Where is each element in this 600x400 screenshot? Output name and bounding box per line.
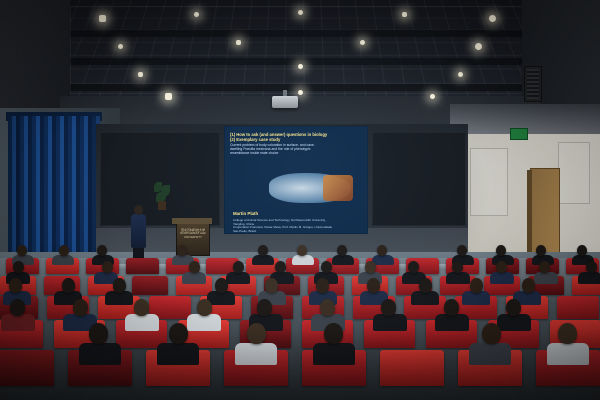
audience-person-head xyxy=(247,323,266,344)
audience-person-torso xyxy=(235,343,277,365)
audience-person-torso xyxy=(534,272,558,284)
audience-person-head xyxy=(367,278,380,293)
front-wall-panel-right xyxy=(372,132,466,226)
slide-presenter-name: Martin Plath xyxy=(233,211,258,216)
audience-chair xyxy=(132,276,168,295)
ceiling-light xyxy=(298,90,303,95)
audience-person-head xyxy=(62,278,75,293)
ceiling-light xyxy=(430,94,435,99)
audience-person-torso xyxy=(187,314,221,331)
audience-person-head xyxy=(522,278,535,293)
audience-person-torso xyxy=(547,343,589,365)
audience-person-torso xyxy=(446,272,470,284)
presenter-head xyxy=(134,205,143,215)
audience-person-head xyxy=(10,299,25,316)
slide-figure-cave xyxy=(323,175,353,201)
audience-person-torso xyxy=(578,272,600,284)
lectern-top xyxy=(172,218,212,224)
slide-affiliation: College of Animal Science and Technology… xyxy=(233,219,353,233)
audience-person-torso xyxy=(226,272,250,284)
audience-person-torso xyxy=(462,291,490,305)
audience-person-head xyxy=(470,278,483,293)
audience-person-head xyxy=(189,261,200,273)
audience-person-torso xyxy=(182,272,206,284)
audience-chair xyxy=(126,258,159,274)
audience-person-head xyxy=(536,245,546,256)
ceiling-light xyxy=(298,10,303,15)
audience-person-head xyxy=(233,261,244,273)
ceiling-light xyxy=(298,64,303,69)
audience-person-head xyxy=(419,278,432,293)
projection-screen: (1) How to ask (and answer) questions in… xyxy=(224,126,368,234)
audience-person-torso xyxy=(157,343,199,365)
ceiling-light xyxy=(236,40,241,45)
exit-sign xyxy=(510,128,528,140)
audience-person-head xyxy=(197,299,212,316)
ceiling-light xyxy=(360,40,365,45)
audience-person-torso xyxy=(79,343,121,365)
audience-person-head xyxy=(215,278,228,293)
front-wall-panel-left xyxy=(100,132,220,226)
audience-person-torso xyxy=(252,255,274,265)
audience-person-head xyxy=(337,245,347,256)
audience-person-head xyxy=(324,323,343,344)
audience-person-head xyxy=(457,245,467,256)
ceiling-frame xyxy=(70,6,532,94)
ceiling-light xyxy=(475,43,482,50)
audience-person-head xyxy=(73,299,88,316)
audience-person-head xyxy=(316,278,329,293)
audience-chair xyxy=(380,350,444,386)
audience-person-torso xyxy=(332,255,354,265)
audience-person-head xyxy=(59,245,69,256)
wall-panel xyxy=(558,142,590,204)
ceiling-light xyxy=(118,44,123,49)
audience-person-torso xyxy=(1,314,35,331)
projector xyxy=(272,96,298,108)
audience-person-head xyxy=(452,261,463,273)
audience-chair xyxy=(557,296,599,319)
presenter-body xyxy=(131,214,146,248)
audience-person-head xyxy=(321,261,332,273)
audience-person-head xyxy=(17,245,27,256)
audience-person-torso xyxy=(373,314,407,331)
audience-person-torso xyxy=(497,314,531,331)
audience-person-head xyxy=(506,299,521,316)
audience-person-head xyxy=(381,299,396,316)
audience-person-torso xyxy=(435,314,469,331)
audience-person-torso xyxy=(469,343,511,365)
ceiling-light xyxy=(489,15,496,22)
ceiling-light xyxy=(165,93,172,100)
audience-person-torso xyxy=(292,255,314,265)
audience-person-torso xyxy=(490,272,514,284)
audience-person-head xyxy=(265,278,278,293)
ceiling-light xyxy=(194,12,199,17)
slide-subtitle: Current problem of body coloration in su… xyxy=(230,143,362,156)
lecture-hall-photo: (1) How to ask (and answer) questions in… xyxy=(0,0,600,400)
lectern-label: 西北农林科技大学 NORTHWEST A&F UNIVERSITY xyxy=(180,229,206,239)
audience-person-head xyxy=(297,245,307,256)
audience-person-torso xyxy=(105,291,133,305)
potted-plant xyxy=(154,182,170,210)
audience-person-head xyxy=(258,245,268,256)
audience-chair xyxy=(0,350,54,386)
ceiling-light xyxy=(138,72,143,77)
audience-person-head xyxy=(577,245,587,256)
audience-person-head xyxy=(89,323,108,344)
audience-person-head xyxy=(97,245,107,256)
wall-panel xyxy=(470,148,508,216)
ceiling-light xyxy=(99,15,106,22)
audience-person-head xyxy=(169,323,188,344)
audience-person-head xyxy=(134,299,149,316)
audience-person-head xyxy=(257,299,272,316)
audience-person-head xyxy=(377,245,387,256)
audience-person-torso xyxy=(125,314,159,331)
ceiling-light xyxy=(402,12,407,17)
audience-person-head xyxy=(13,261,24,273)
audience-person-head xyxy=(586,261,597,273)
audience-person-torso xyxy=(313,343,355,365)
audience-person-head xyxy=(539,261,550,273)
audience-person-head xyxy=(482,323,501,344)
audience-person-torso xyxy=(52,255,74,265)
audience-person-head xyxy=(275,261,286,273)
slide-title: (1) How to ask (and answer) questions in… xyxy=(230,132,362,142)
audience-person-head xyxy=(177,245,187,256)
audience-person-head xyxy=(444,299,459,316)
audience-person-head xyxy=(102,261,113,273)
audience-person-head xyxy=(496,245,506,256)
audience-person-head xyxy=(320,299,335,316)
loudspeaker xyxy=(524,66,542,102)
ceiling-light xyxy=(458,72,463,77)
audience-person-head xyxy=(365,261,376,273)
audience-person-torso xyxy=(411,291,439,305)
